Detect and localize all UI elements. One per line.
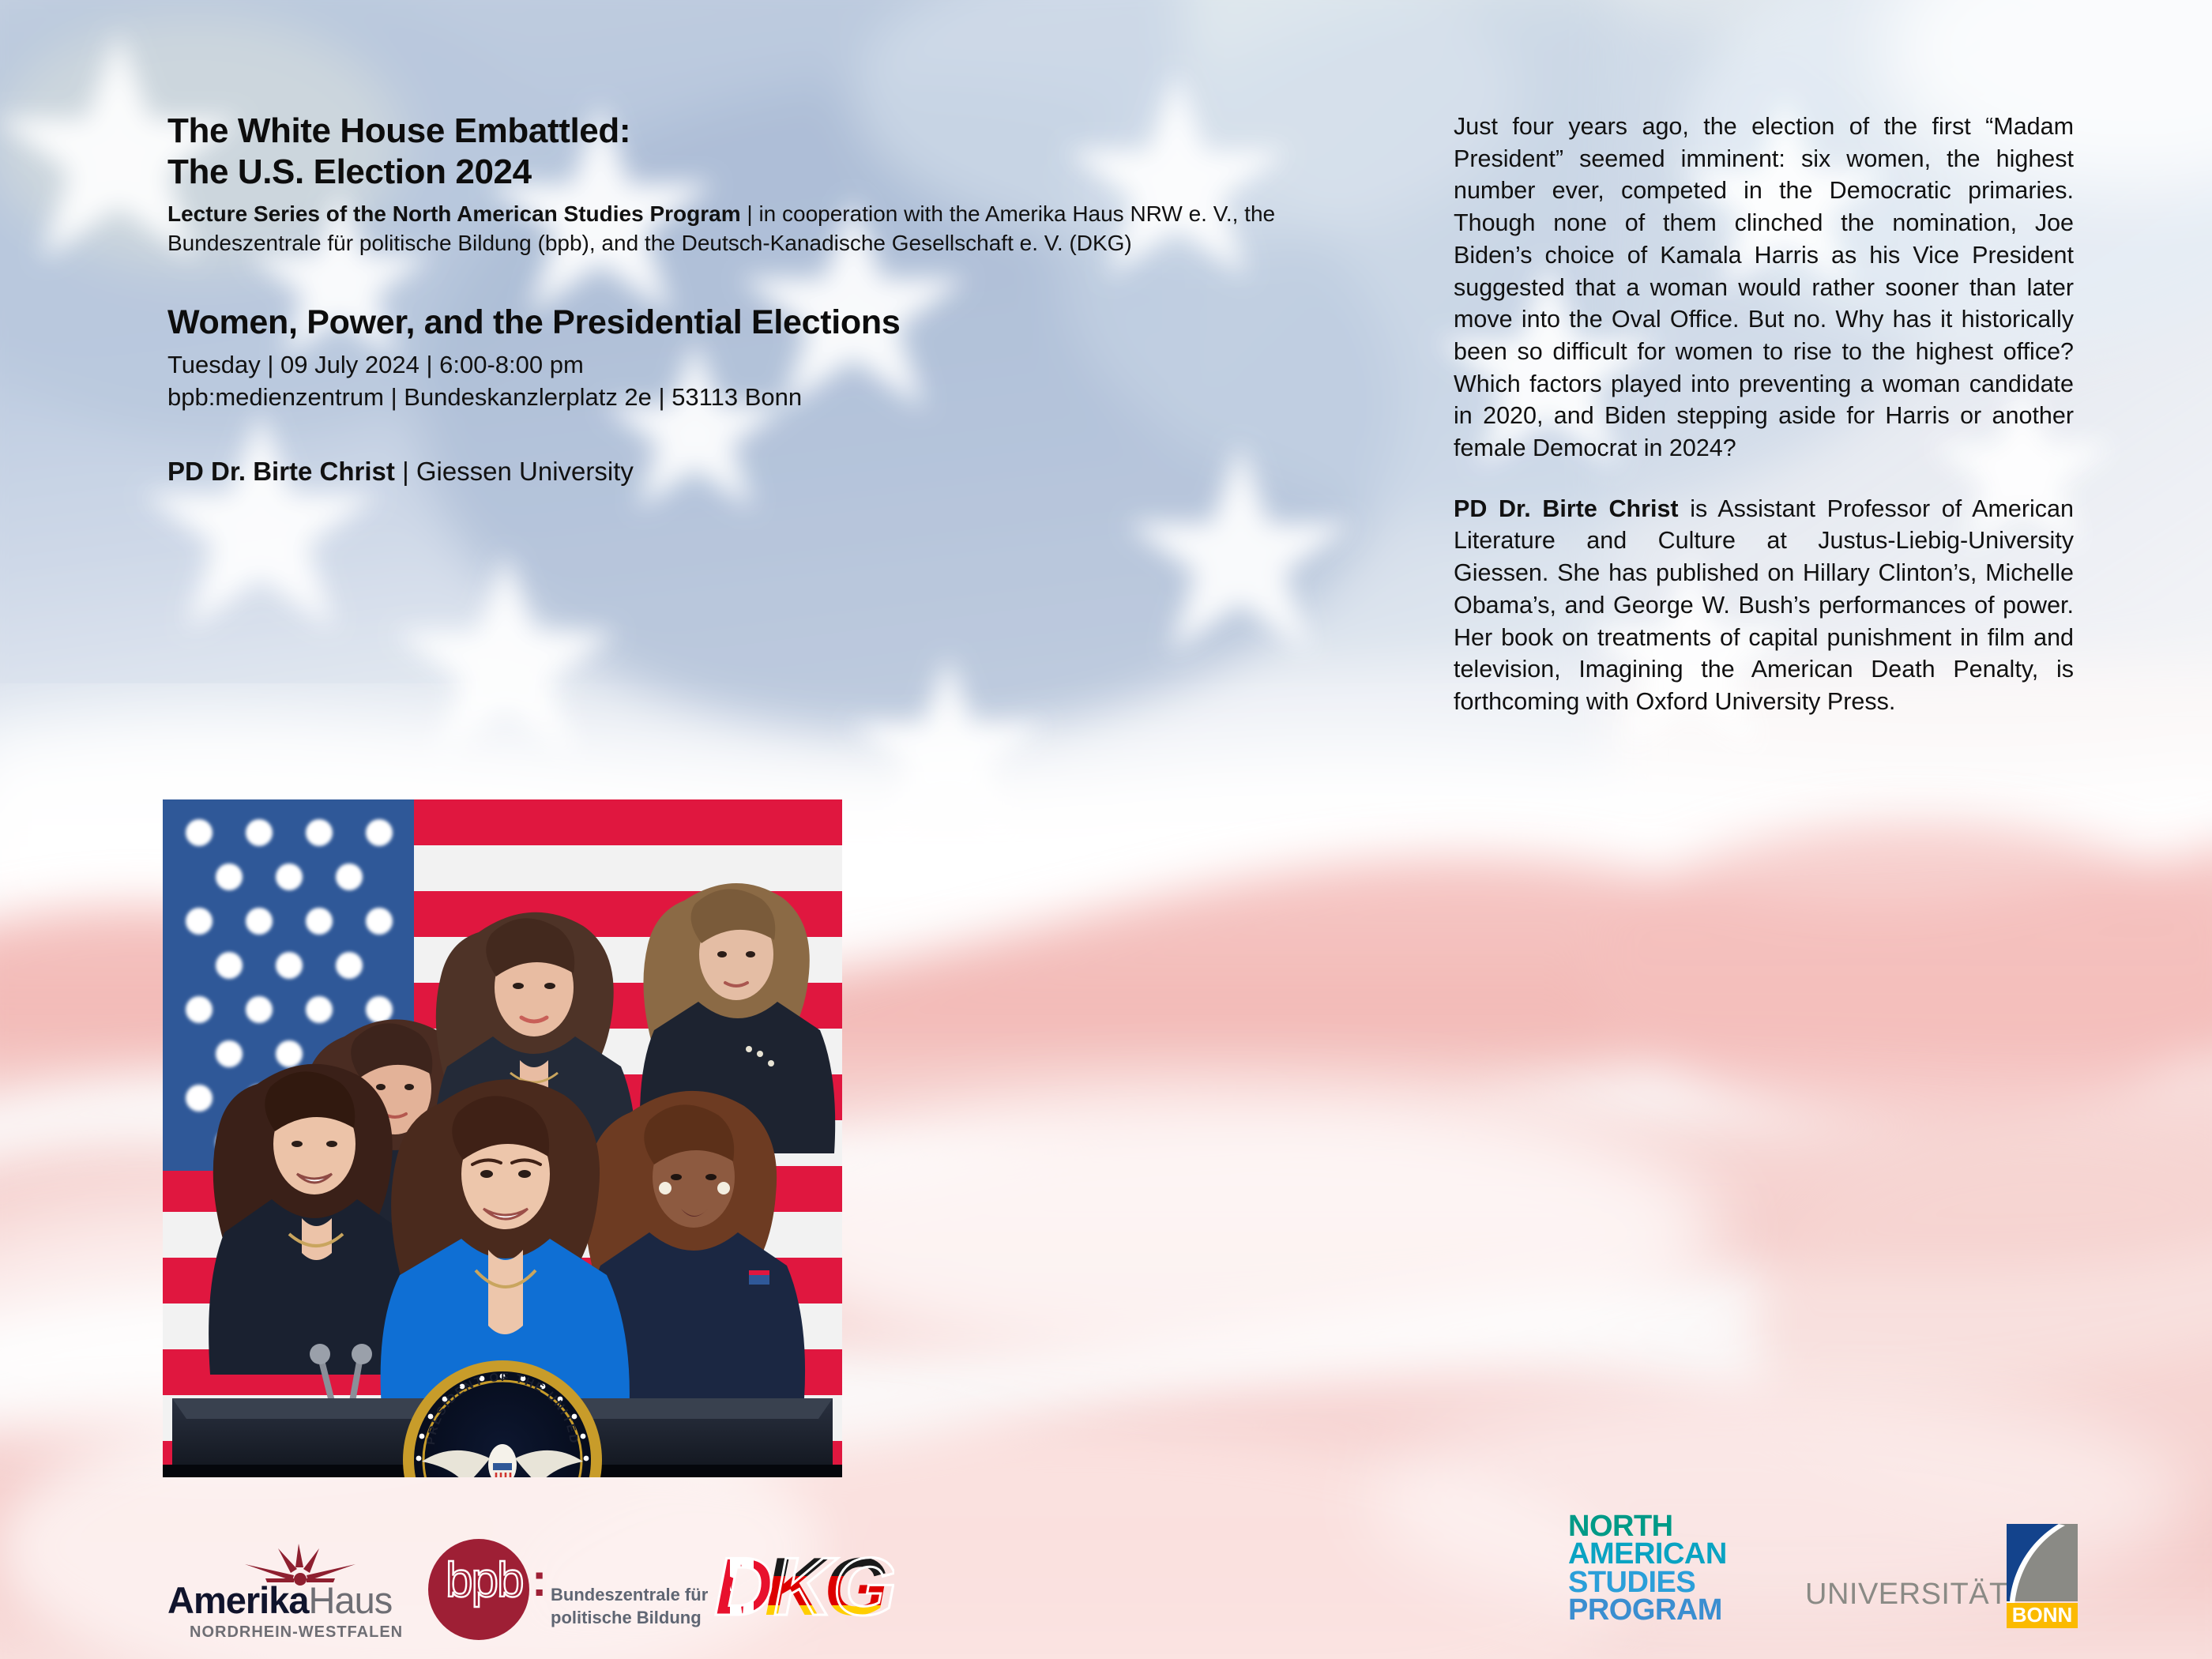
nasp-line3: STUDIES <box>1568 1569 1797 1597</box>
lecture-venue: bpb:medienzentrum | Bundeskanzlerplatz 2… <box>167 381 1289 413</box>
series-subtitle: Lecture Series of the North American Stu… <box>167 199 1289 258</box>
lecture-title: Women, Power, and the Presidential Elect… <box>167 301 1100 344</box>
unibonn-bonn-text: BONN <box>2012 1603 2073 1627</box>
dkg-letters-outline: DKG <box>714 1547 894 1633</box>
speaker-line: PD Dr. Birte Christ | Giessen University <box>167 455 1289 489</box>
lecture-details: Tuesday | 09 July 2024 | 6:00-8:00 pm bp… <box>167 348 1289 413</box>
series-subtitle-bold: Lecture Series of the North American Stu… <box>167 201 741 226</box>
series-title-line1: The White House Embattled: <box>167 111 1289 152</box>
unibonn-wordmark: UNIVERSITÄT <box>1805 1578 2008 1612</box>
series-subtitle-divider: | <box>741 201 759 226</box>
logo-amerika-haus-nrw: AmerikaHaus NORDRHEIN-WESTFALEN <box>167 1547 428 1642</box>
nasp-line4: PROGRAM <box>1568 1597 1797 1624</box>
series-title-line2: The U.S. Election 2024 <box>167 152 1289 193</box>
amerika-haus-word-light: Haus <box>309 1579 393 1621</box>
nasp-line1: NORTH <box>1568 1513 1797 1540</box>
unibonn-crest-icon: BONN <box>2007 1524 2078 1628</box>
speaker-affiliation: | Giessen University <box>395 457 634 486</box>
bio-text: is Assistant Professor of American Liter… <box>1454 495 2074 715</box>
bpb-subtitle: Bundeszentrale für politische Bildung <box>551 1583 708 1629</box>
bio-paragraph: PD Dr. Birte Christ is Assistant Profess… <box>1454 493 2074 718</box>
logo-dkg: D KG DKG <box>713 1547 894 1634</box>
right-column: Just four years ago, the election of the… <box>1454 111 2074 718</box>
abstract-paragraph: Just four years ago, the election of the… <box>1454 111 2074 465</box>
bpb-subtitle-line2: politische Bildung <box>551 1606 708 1629</box>
logo-bpb: bpb : Bundeszentrale für politische Bild… <box>428 1534 689 1651</box>
amerika-haus-wordmark: AmerikaHaus <box>167 1582 428 1619</box>
lecture-photo: PRESIDENT OF THE UNITED SEAL OF THE STAT… <box>163 799 842 1477</box>
nasp-line2: AMERICAN <box>1568 1540 1797 1568</box>
left-column: The White House Embattled: The U.S. Elec… <box>167 111 1289 489</box>
bpb-colon: : <box>532 1558 547 1604</box>
bpb-letters: bpb <box>446 1556 522 1605</box>
logo-universitaet-bonn: UNIVERSITÄT BONN <box>1805 1537 2078 1631</box>
amerika-haus-subtitle: NORDRHEIN-WESTFALEN <box>190 1623 403 1642</box>
lecture-datetime: Tuesday | 09 July 2024 | 6:00-8:00 pm <box>167 348 1289 381</box>
speaker-name: PD Dr. Birte Christ <box>167 457 395 486</box>
partner-logos-left: AmerikaHaus NORDRHEIN-WESTFALEN bpb : Bu… <box>167 1533 894 1651</box>
partner-logos-right: NORTH AMERICAN STUDIES PROGRAM UNIVERSIT… <box>1568 1513 2074 1647</box>
bpb-subtitle-line1: Bundeszentrale für <box>551 1583 708 1606</box>
logo-north-american-studies-program: NORTH AMERICAN STUDIES PROGRAM <box>1568 1513 1797 1631</box>
series-title: The White House Embattled: The U.S. Elec… <box>167 111 1289 194</box>
amerika-haus-word-bold: Amerika <box>167 1579 309 1621</box>
bio-speaker-name: PD Dr. Birte Christ <box>1454 495 1679 522</box>
